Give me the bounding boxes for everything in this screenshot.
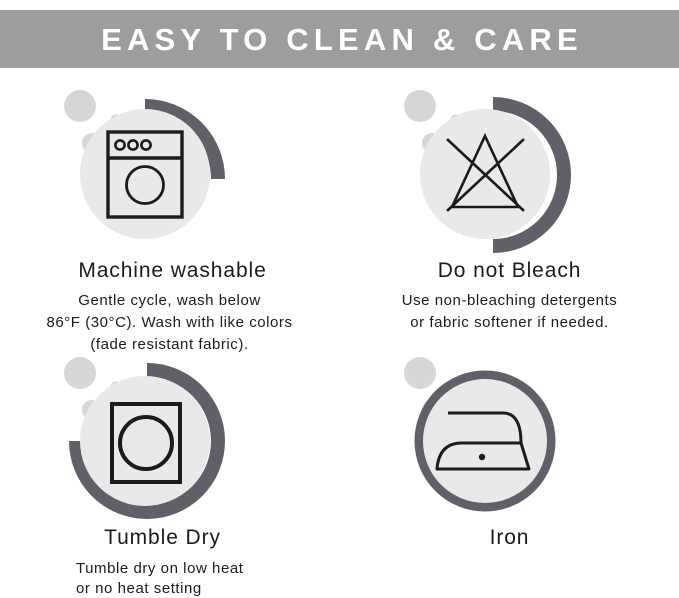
care-instruction-grid: Machine washable Gentle cycle, wash belo… [0, 68, 679, 593]
bubble-large-icon [64, 357, 96, 389]
bubble-large-icon [404, 357, 436, 389]
icon-stage-iron [340, 351, 679, 526]
washing-machine-icon [50, 84, 290, 259]
care-card-iron: Iron [340, 351, 679, 557]
card-title-tumble-dry: Tumble Dry [0, 526, 339, 550]
card-title-machine-washable: Machine washable [0, 259, 339, 283]
icon-circle-background [423, 379, 547, 503]
care-card-machine-washable: Machine washable Gentle cycle, wash belo… [0, 84, 339, 355]
card-subtitle-tumble-dry: Tumble dry on low heat or no heat settin… [0, 559, 339, 598]
care-card-tumble-dry: Tumble Dry Tumble dry on low heat or no … [0, 351, 339, 598]
icon-circle-background [80, 109, 210, 239]
bubble-large-icon [64, 90, 96, 122]
iron-dot-icon [478, 454, 484, 460]
icon-stage-do-not-bleach [340, 84, 679, 259]
tumble-dry-square-icon [50, 351, 290, 526]
icon-circle-background [80, 376, 210, 506]
no-bleach-triangle-icon [390, 84, 630, 259]
card-subtitle-machine-washable: Gentle cycle, wash below 86°F (30°C). Wa… [0, 290, 339, 355]
page-title: EASY TO CLEAN & CARE [96, 24, 583, 55]
iron-icon [390, 351, 630, 526]
card-title-iron: Iron [340, 526, 679, 550]
card-subtitle-do-not-bleach: Use non-bleaching detergents or fabric s… [340, 290, 679, 334]
bubble-large-icon [404, 90, 436, 122]
icon-stage-tumble-dry [0, 351, 339, 526]
icon-stage-machine-washable [0, 84, 339, 259]
card-title-do-not-bleach: Do not Bleach [340, 259, 679, 283]
header-banner: EASY TO CLEAN & CARE [0, 10, 679, 68]
care-card-do-not-bleach: Do not Bleach Use non-bleaching detergen… [340, 84, 679, 334]
